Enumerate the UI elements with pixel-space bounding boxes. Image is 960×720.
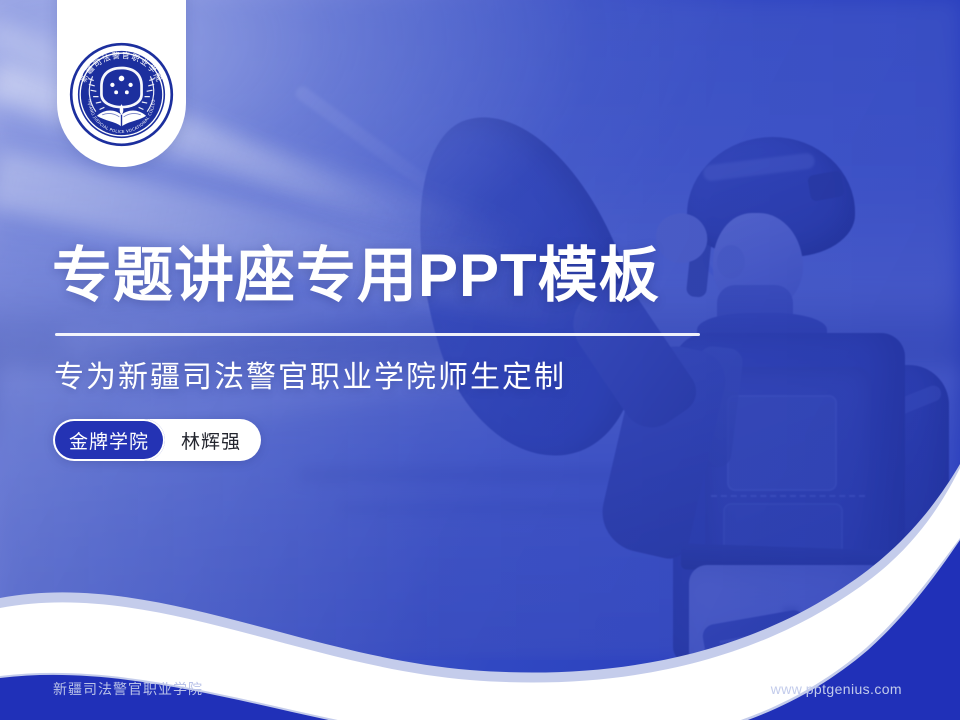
emblem-shield-inner	[103, 69, 140, 105]
title-divider	[55, 333, 700, 336]
badge-chip-label: 金牌学院	[53, 419, 165, 461]
footer-website[interactable]: www.pptgenius.com	[771, 681, 902, 697]
footer-institution: 新疆司法警官职业学院	[53, 679, 203, 699]
presentation-slide: 新疆司法警官职业学院 XINJIANG JUDICIAL POLICE VOCA…	[0, 0, 960, 720]
logo-tab-panel: 新疆司法警官职业学院 XINJIANG JUDICIAL POLICE VOCA…	[57, 0, 186, 167]
page-subtitle: 专为新疆司法警官职业学院师生定制	[54, 352, 566, 396]
page-title: 专题讲座专用PPT模板	[52, 242, 660, 309]
presenter-name: 林辉强	[181, 427, 241, 454]
bottom-wave-decoration	[0, 420, 960, 720]
presenter-badge: 金牌学院 林辉强	[53, 419, 261, 461]
college-emblem-logo: 新疆司法警官职业学院 XINJIANG JUDICIAL POLICE VOCA…	[68, 41, 175, 148]
